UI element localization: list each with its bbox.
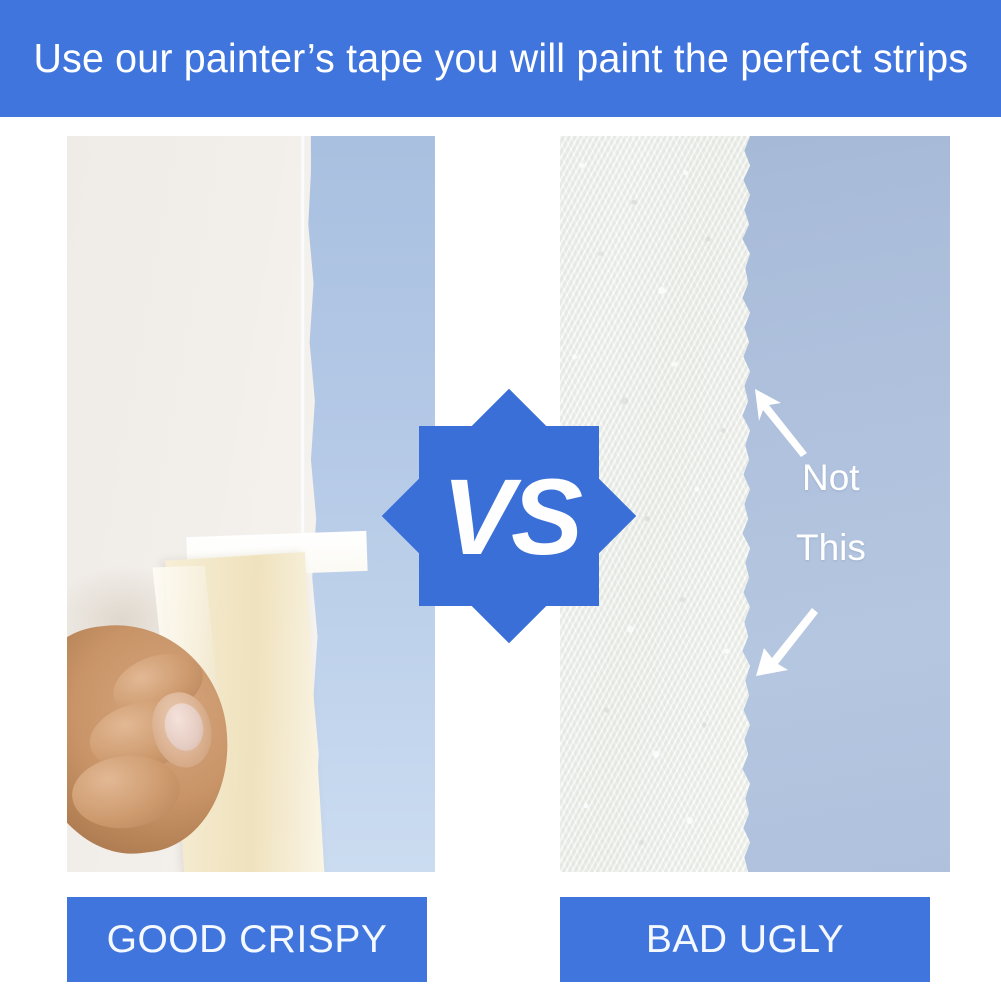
header-banner: Use our painter’s tape you will paint th… [0, 0, 1001, 117]
caption-good-crispy-label: GOOD CRISPY [107, 918, 388, 962]
annotation-not: Not [802, 459, 860, 496]
photo-good-crispy [67, 136, 435, 872]
caption-bad-ugly: BAD UGLY [560, 897, 930, 982]
page-title: Use our painter’s tape you will paint th… [33, 35, 968, 82]
caption-bad-ugly-label: BAD UGLY [646, 918, 844, 962]
vs-label: VS [383, 390, 635, 642]
vs-badge: VS [383, 390, 635, 642]
arrow-up-left-icon [745, 381, 825, 461]
arrow-down-left-icon [750, 602, 830, 682]
caption-good-crispy: GOOD CRISPY [67, 897, 427, 982]
annotation-this: This [796, 529, 866, 566]
